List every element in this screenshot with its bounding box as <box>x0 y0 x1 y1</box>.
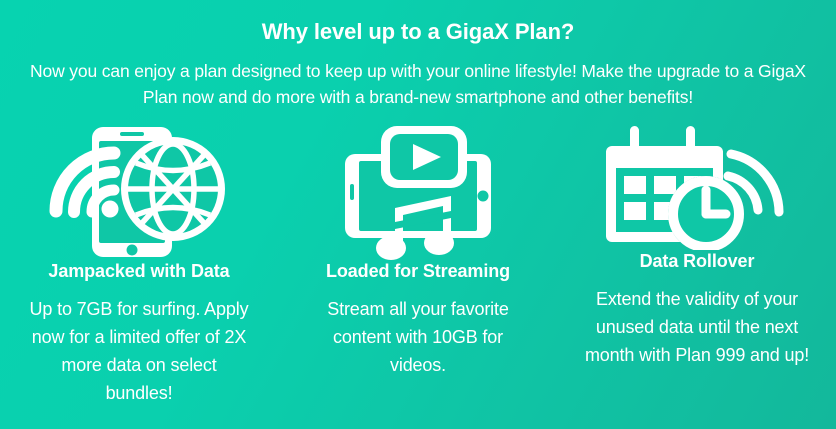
feature-description: Extend the validity of your unused data … <box>580 272 814 369</box>
page-title: Why level up to a GigaX Plan? <box>0 0 836 46</box>
feature-title: Loaded for Streaming <box>326 260 510 282</box>
calendar-clock-wifi-icon <box>604 124 790 250</box>
banner-subheadline: Now you can enjoy a plan designed to kee… <box>18 46 818 110</box>
phone-video-music-icon <box>333 124 503 260</box>
feature-item-rollover: Data Rollover Extend the validity of you… <box>558 124 836 369</box>
smartphone-wifi-globe-icon <box>44 124 234 260</box>
feature-item-data: Jampacked with Data Up to 7GB for surfin… <box>0 124 278 407</box>
feature-icon-wrap <box>604 124 790 250</box>
feature-list: Jampacked with Data Up to 7GB for surfin… <box>0 124 836 407</box>
banner-header: Why level up to a GigaX Plan? Now you ca… <box>0 0 836 110</box>
feature-description: Up to 7GB for surfing. Apply now for a l… <box>28 282 250 407</box>
feature-title: Data Rollover <box>640 250 755 272</box>
gigax-promo-banner: Why level up to a GigaX Plan? Now you ca… <box>0 0 836 429</box>
feature-description: Stream all your favorite content with 10… <box>310 282 526 379</box>
feature-icon-wrap <box>44 124 234 260</box>
feature-title: Jampacked with Data <box>48 260 229 282</box>
feature-icon-wrap <box>333 124 503 260</box>
feature-item-streaming: Loaded for Streaming Stream all your fav… <box>279 124 557 379</box>
